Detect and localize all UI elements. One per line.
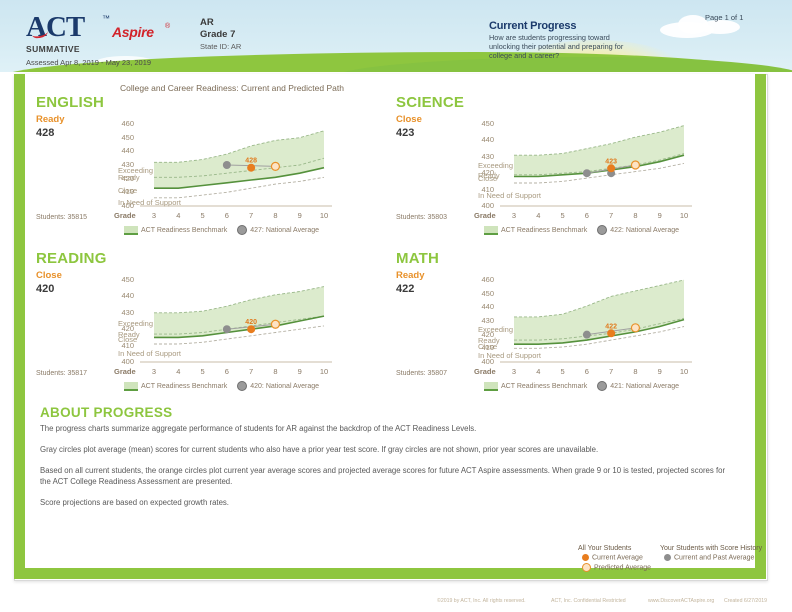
x-axis-tick: 3 xyxy=(508,367,520,376)
chart-reading: READINGClose420Students: 358174204504404… xyxy=(36,250,326,395)
legend-current-average-label: Current Average xyxy=(592,554,643,561)
national-average-dot-icon xyxy=(237,225,247,235)
x-axis-tick: 9 xyxy=(294,211,306,220)
x-axis-tick: 3 xyxy=(148,211,160,220)
hollow-orange-dot-icon xyxy=(582,563,591,572)
national-average-dot-icon xyxy=(597,381,607,391)
y-axis-tick: 460 xyxy=(472,275,494,284)
x-axis-title: Grade xyxy=(114,367,136,376)
x-axis-tick: 8 xyxy=(629,367,641,376)
x-axis-tick: 4 xyxy=(532,367,544,376)
x-axis-tick: 7 xyxy=(245,211,257,220)
chart-legend-row: ACT Readiness Benchmark427: National Ave… xyxy=(124,225,319,235)
about-paragraph-1: The progress charts summarize aggregate … xyxy=(40,424,730,435)
readiness-band-label: In Need of Support xyxy=(118,349,181,358)
section-title: College and Career Readiness: Current an… xyxy=(120,83,344,93)
y-axis-tick: 450 xyxy=(112,133,134,142)
about-paragraph-3: Based on all current students, the orang… xyxy=(40,466,730,487)
readiness-band-label: In Need of Support xyxy=(478,191,541,200)
x-axis-tick: 9 xyxy=(654,211,666,220)
current-average-dot xyxy=(607,164,615,172)
predicted-average-dot xyxy=(631,324,639,332)
legend-col2-heading: Your Students with Score History xyxy=(660,545,762,552)
x-axis-tick: 5 xyxy=(557,367,569,376)
x-axis-tick: 9 xyxy=(294,367,306,376)
aspire-trademark: ® xyxy=(165,23,170,30)
x-axis-tick: 3 xyxy=(508,211,520,220)
legend-national-average-label: 427: National Average xyxy=(250,227,319,234)
national-average-dot-icon xyxy=(237,381,247,391)
y-axis-tick: 400 xyxy=(112,357,134,366)
y-axis-tick: 450 xyxy=(472,119,494,128)
footer-confidential: ACT, Inc. Confidential Restricted xyxy=(551,598,626,604)
legend-current-past-average: Current and Past Average xyxy=(660,554,762,561)
x-axis-tick: 9 xyxy=(654,367,666,376)
x-axis-tick: 4 xyxy=(532,211,544,220)
chart-math: MATHReady422Students: 358074224604504404… xyxy=(396,250,686,395)
page-header: ACT ™ Aspire ® SUMMATIVE Assessed Apr 8,… xyxy=(0,0,792,72)
x-axis-tick: 10 xyxy=(678,211,690,220)
act-wordmark: ACT xyxy=(26,11,84,44)
readiness-band-label: Close xyxy=(478,342,497,351)
predicted-average-dot xyxy=(271,320,279,328)
current-average-dot xyxy=(247,325,255,333)
y-axis-tick: 440 xyxy=(112,291,134,300)
current-progress-title: Current Progress xyxy=(489,20,576,32)
x-axis-tick: 7 xyxy=(605,367,617,376)
x-axis-tick: 6 xyxy=(581,367,593,376)
y-axis-tick: 440 xyxy=(472,302,494,311)
y-axis-tick: 450 xyxy=(472,289,494,298)
footer-url[interactable]: www.DiscoverACTAspire.org xyxy=(648,598,714,604)
chart-science: SCIENCEClose423Students: 358034234504404… xyxy=(396,94,686,239)
national-average-dot-icon xyxy=(597,225,607,235)
y-axis-tick: 400 xyxy=(472,201,494,210)
readiness-band-label: Exceeding xyxy=(478,161,513,170)
current-average-dot xyxy=(247,164,255,172)
x-axis-tick: 5 xyxy=(557,211,569,220)
footer-copyright: ©2019 by ACT, Inc. All rights reserved. xyxy=(437,598,526,604)
x-axis-title: Grade xyxy=(114,211,136,220)
x-axis-title: Grade xyxy=(474,367,496,376)
benchmark-swatch-icon xyxy=(484,382,498,391)
x-axis-tick: 7 xyxy=(605,211,617,220)
x-axis-tick: 4 xyxy=(172,211,184,220)
x-axis-tick: 5 xyxy=(197,367,209,376)
orange-dot-icon xyxy=(582,554,589,561)
current-score-datalabel: 422 xyxy=(605,323,617,330)
x-axis-tick: 6 xyxy=(581,211,593,220)
gray-average-dot xyxy=(223,161,231,169)
gray-average-dot xyxy=(223,325,231,333)
page-number: Page 1 of 1 xyxy=(705,13,743,22)
legend-national-average-label: 421: National Average xyxy=(610,383,679,390)
readiness-band-label: Close xyxy=(118,335,137,344)
grade-label: Grade 7 xyxy=(200,29,235,40)
x-axis-tick: 7 xyxy=(245,367,257,376)
state-id-label: State ID: AR xyxy=(200,42,241,51)
readiness-band-label: Close xyxy=(478,174,497,183)
y-axis-tick: 430 xyxy=(112,308,134,317)
state-label: AR xyxy=(200,17,214,29)
legend-current-average: Current Average xyxy=(578,554,651,561)
chart-legend-row: ACT Readiness Benchmark422: National Ave… xyxy=(484,225,679,235)
x-axis-tick: 10 xyxy=(678,367,690,376)
readiness-band-label: Close xyxy=(118,186,137,195)
gray-dot-icon xyxy=(664,554,671,561)
chart-legend-row: ACT Readiness Benchmark420: National Ave… xyxy=(124,381,319,391)
y-axis-tick: 450 xyxy=(112,275,134,284)
cloud-icon xyxy=(700,20,740,34)
act-trademark: ™ xyxy=(102,14,110,23)
readiness-band-label: Exceeding xyxy=(118,319,153,328)
act-aspire-logo: ACT ™ Aspire ® xyxy=(26,11,84,44)
x-axis-tick: 6 xyxy=(221,367,233,376)
y-axis-tick: 430 xyxy=(472,152,494,161)
assessed-date-range: Assessed Apr 8, 2019 - May 23, 2019 xyxy=(26,58,151,67)
readiness-band-label: In Need of Support xyxy=(478,351,541,360)
readiness-band-label: In Need of Support xyxy=(118,198,181,207)
current-score-datalabel: 428 xyxy=(245,158,257,165)
about-paragraph-2: Gray circles plot average (mean) scores … xyxy=(40,445,730,456)
aspire-wordmark: Aspire xyxy=(112,24,154,40)
predicted-average-dot xyxy=(271,162,279,170)
predicted-average-dot xyxy=(631,161,639,169)
gray-average-dot xyxy=(583,331,591,339)
about-progress-title: ABOUT PROGRESS xyxy=(40,405,172,420)
y-axis-tick: 440 xyxy=(472,135,494,144)
current-score-datalabel: 423 xyxy=(605,158,617,165)
x-axis-title: Grade xyxy=(474,211,496,220)
x-axis-tick: 4 xyxy=(172,367,184,376)
y-axis-tick: 460 xyxy=(112,119,134,128)
legend-national-average-label: 422: National Average xyxy=(610,227,679,234)
legend-benchmark-label: ACT Readiness Benchmark xyxy=(141,227,227,234)
report-type-label: SUMMATIVE xyxy=(26,44,80,54)
legend-benchmark-label: ACT Readiness Benchmark xyxy=(501,227,587,234)
footer-created-date: Created 6/27/2019 xyxy=(724,598,767,604)
benchmark-swatch-icon xyxy=(484,226,498,235)
current-average-dot xyxy=(607,329,615,337)
legend-col-1: All Your Students Current Average Predic… xyxy=(578,545,651,572)
panel-left-accent xyxy=(14,74,25,579)
panel-right-accent xyxy=(755,74,766,579)
y-axis-tick: 440 xyxy=(112,146,134,155)
x-axis-tick: 8 xyxy=(269,211,281,220)
x-axis-tick: 8 xyxy=(629,211,641,220)
legend-col-2: Your Students with Score History Current… xyxy=(660,545,762,561)
current-score-datalabel: 420 xyxy=(245,319,257,326)
x-axis-tick: 6 xyxy=(221,211,233,220)
x-axis-tick: 3 xyxy=(148,367,160,376)
legend-col1-heading: All Your Students xyxy=(578,545,651,552)
panel-bottom-accent xyxy=(14,568,766,579)
x-axis-tick: 10 xyxy=(318,211,330,220)
legend-benchmark-label: ACT Readiness Benchmark xyxy=(141,383,227,390)
current-progress-subtitle: How are students progressing toward unlo… xyxy=(489,33,639,61)
readiness-band-label: Exceeding xyxy=(478,325,513,334)
legend-predicted-average: Predicted Average xyxy=(578,563,651,572)
about-paragraph-4: Score projections are based on expected … xyxy=(40,498,730,509)
chart-english: ENGLISHReady428Students: 358154284604504… xyxy=(36,94,326,239)
x-axis-tick: 5 xyxy=(197,211,209,220)
legend-benchmark-label: ACT Readiness Benchmark xyxy=(501,383,587,390)
benchmark-swatch-icon xyxy=(124,382,138,391)
x-axis-tick: 8 xyxy=(269,367,281,376)
gray-average-dot xyxy=(583,169,591,177)
readiness-band-area xyxy=(154,131,324,188)
benchmark-swatch-icon xyxy=(124,226,138,235)
readiness-band-label: Ready xyxy=(118,173,140,182)
x-axis-tick: 10 xyxy=(318,367,330,376)
legend-predicted-average-label: Predicted Average xyxy=(594,565,651,572)
legend-current-past-average-label: Current and Past Average xyxy=(674,554,754,561)
chart-legend-row: ACT Readiness Benchmark421: National Ave… xyxy=(484,381,679,391)
legend-national-average-label: 420: National Average xyxy=(250,383,319,390)
